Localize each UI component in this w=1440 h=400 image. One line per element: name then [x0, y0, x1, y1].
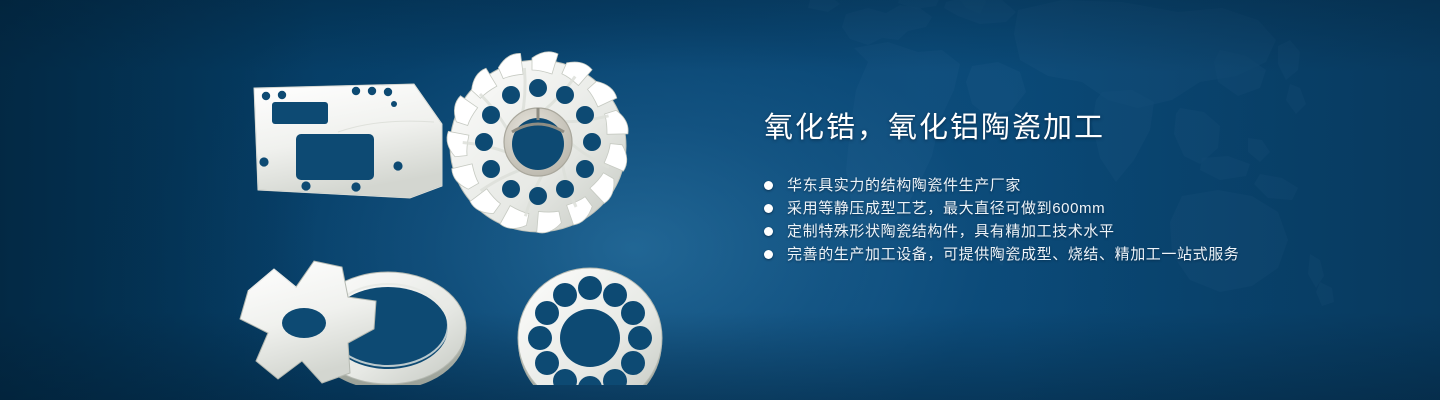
- list-item-label: 华东具实力的结构陶瓷件生产厂家: [787, 174, 1021, 197]
- list-item: 采用等静压成型工艺，最大直径可做到600mm: [764, 197, 1324, 220]
- ceramic-products-photo: [228, 40, 718, 385]
- list-item: 定制特殊形状陶瓷结构件，具有精加工技术水平: [764, 220, 1324, 243]
- feature-list: 华东具实力的结构陶瓷件生产厂家 采用等静压成型工艺，最大直径可做到600mm 定…: [764, 174, 1324, 266]
- ceramic-impeller-vaned-disc: [446, 51, 630, 234]
- promo-banner: 氧化锆，氧化铝陶瓷加工 华东具实力的结构陶瓷件生产厂家 采用等静压成型工艺，最大…: [0, 0, 1440, 400]
- bullet-dot-icon: [764, 250, 773, 259]
- bullet-dot-icon: [764, 204, 773, 213]
- list-item-label: 定制特殊形状陶瓷结构件，具有精加工技术水平: [787, 220, 1115, 243]
- banner-copy: 氧化锆，氧化铝陶瓷加工 华东具实力的结构陶瓷件生产厂家 采用等静压成型工艺，最大…: [764, 108, 1324, 266]
- ceramic-plate-with-cutouts: [254, 84, 442, 198]
- list-item-label: 采用等静压成型工艺，最大直径可做到600mm: [787, 197, 1105, 220]
- bullet-dot-icon: [764, 227, 773, 236]
- page-title: 氧化锆，氧化铝陶瓷加工: [764, 108, 1324, 148]
- bullet-dot-icon: [764, 181, 773, 190]
- ceramic-perforated-disc: [518, 268, 662, 385]
- list-item-label: 完善的生产加工设备，可提供陶瓷成型、烧结、精加工一站式服务: [787, 243, 1239, 266]
- list-item: 华东具实力的结构陶瓷件生产厂家: [764, 174, 1324, 197]
- list-item: 完善的生产加工设备，可提供陶瓷成型、烧结、精加工一站式服务: [764, 243, 1324, 266]
